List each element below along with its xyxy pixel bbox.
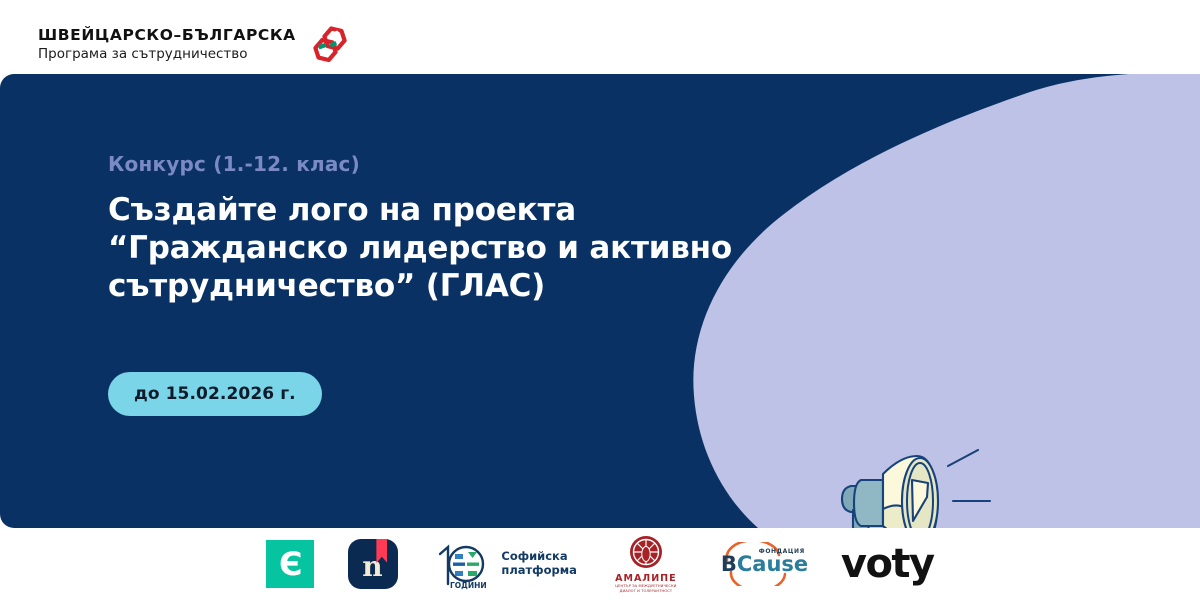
- amalipe-wheel-icon: [626, 534, 666, 572]
- bcause-foundation-label: ФОНДАЦИЯ: [759, 548, 805, 555]
- page-title: Създайте лого на проекта “Гражданско лид…: [108, 192, 778, 305]
- bcause-cause: Cause: [737, 554, 808, 575]
- partner-logo-strip: Э n ГОДИНИ Со: [0, 528, 1200, 600]
- program-title: ШВЕЙЦАРСКО–БЪЛГАРСКА: [38, 27, 296, 45]
- header-bar: ШВЕЙЦАРСКО–БЪЛГАРСКА Програма за сътрудн…: [0, 0, 1200, 74]
- deadline-badge[interactable]: до 15.02.2026 г.: [108, 372, 322, 416]
- poster-canvas: ШВЕЙЦАРСКО–БЪЛГАРСКА Програма за сътрудн…: [0, 0, 1200, 600]
- sofia-platform-line2: платформа: [501, 564, 577, 578]
- bcause-b: B: [721, 554, 737, 575]
- sofia-platform-line1: Софийска: [501, 550, 577, 564]
- logo-amalipe[interactable]: АМАЛИПЕ ЦЕНТЪР ЗА МЕЖДУЕТНИЧЕСКИ ДИАЛОГ …: [611, 536, 681, 592]
- ten-years-circle-icon: ГОДИНИ: [432, 538, 494, 590]
- logo-bcause[interactable]: B Cause ФОНДАЦИЯ: [715, 536, 807, 592]
- program-logo-text: ШВЕЙЦАРСКО–БЪЛГАРСКА Програма за сътрудн…: [38, 27, 296, 64]
- logo-sofia-platform[interactable]: ГОДИНИ Софийска платформа: [432, 536, 577, 592]
- program-subtitle: Програма за сътрудничество: [38, 46, 296, 63]
- voty-wordmark: voty: [841, 544, 934, 584]
- sound-wave-lines: [948, 450, 990, 528]
- hero-panel: Конкурс (1.-12. клас) Създайте лого на п…: [0, 74, 1200, 528]
- amalipe-title: АМАЛИПЕ: [615, 573, 676, 584]
- amalipe-subtitle: ЦЕНТЪР ЗА МЕЖДУЕТНИЧЕСКИ ДИАЛОГ И ТОЛЕРА…: [611, 584, 681, 594]
- bcause-wordmark: B Cause: [721, 554, 808, 575]
- zaedno-glyph: Э: [279, 548, 302, 580]
- logo-zaedno[interactable]: Э: [266, 536, 314, 592]
- amalipe-lockup: АМАЛИПЕ ЦЕНТЪР ЗА МЕЖДУЕТНИЧЕСКИ ДИАЛОГ …: [611, 534, 681, 594]
- logo-voty[interactable]: voty: [841, 536, 934, 592]
- swiss-bulgarian-emblem-icon: [310, 24, 356, 66]
- sofia-platform-text: Софийска платформа: [501, 550, 577, 577]
- program-logo-lockup: ШВЕЙЦАРСКО–БЪЛГАРСКА Програма за сътрудн…: [38, 24, 356, 66]
- zaedno-square: Э: [266, 540, 314, 588]
- megaphone-illustration: [820, 414, 1050, 528]
- eyebrow-label: Конкурс (1.-12. клас): [108, 152, 808, 176]
- nasilie-square: n: [348, 539, 398, 589]
- hero-text-block: Конкурс (1.-12. клас) Създайте лого на п…: [108, 152, 808, 305]
- bcause-lockup: B Cause ФОНДАЦИЯ: [715, 542, 807, 586]
- years-label: ГОДИНИ: [450, 581, 487, 590]
- logo-nasilie[interactable]: n: [348, 536, 398, 592]
